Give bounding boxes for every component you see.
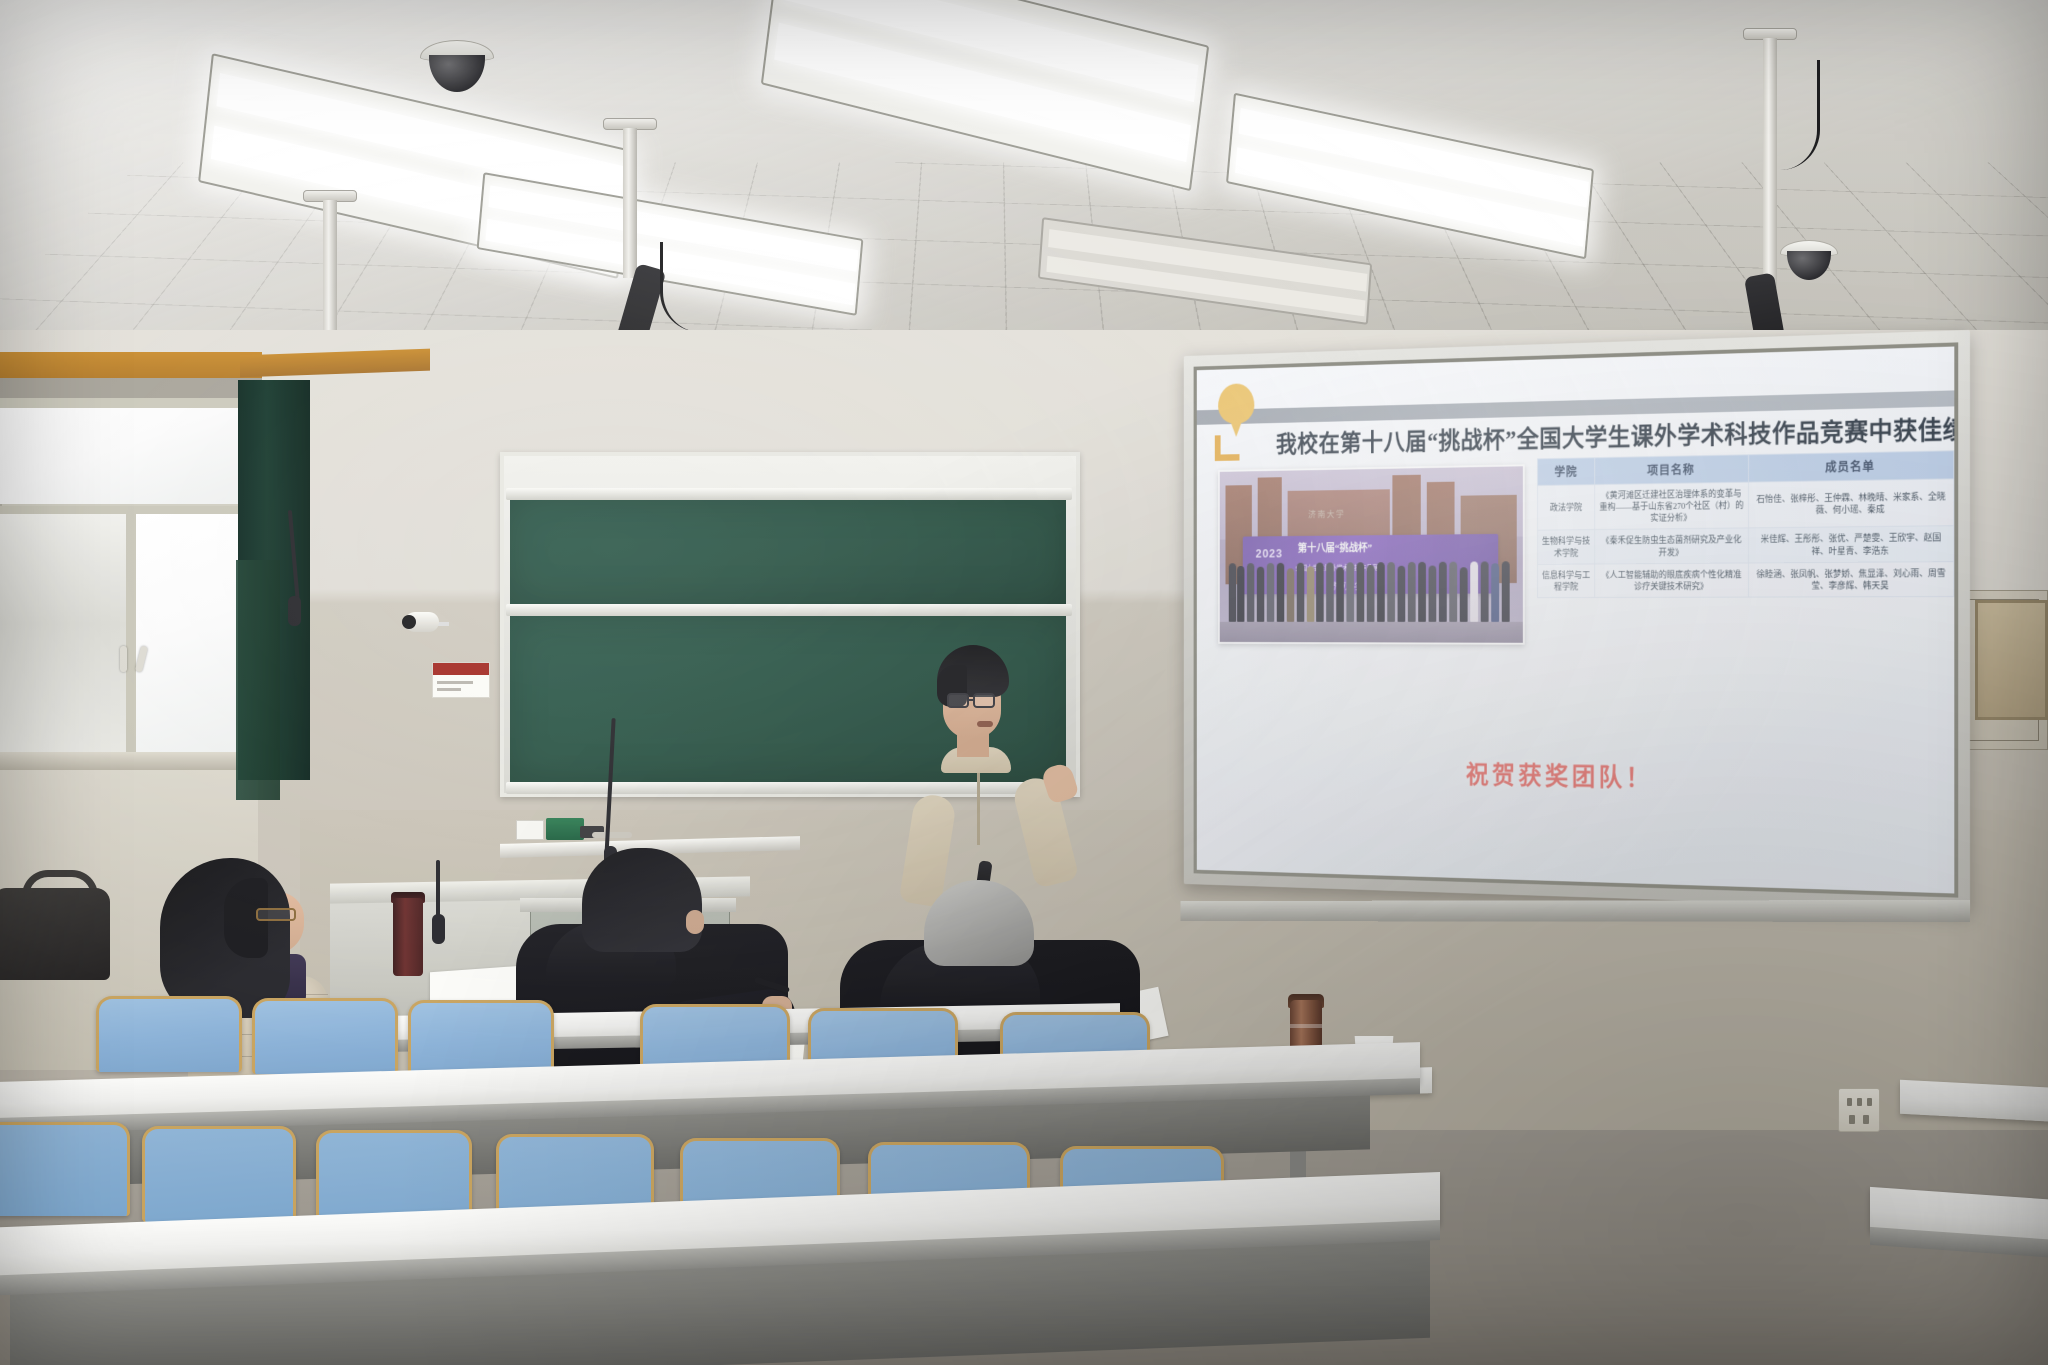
window-top-trim-secondary xyxy=(0,378,262,400)
table-row: 信息科学与工程学院 《人工智能辅助的眼底疾病个性化精准诊疗关键技术研究》 徐睦涵… xyxy=(1538,561,1954,597)
seat[interactable] xyxy=(252,998,398,1074)
glasses-bridge xyxy=(969,699,975,701)
glasses-icon xyxy=(947,693,969,708)
slide-group-photo: 济南大学 2023 第十八届“挑战杯” 全国大学生课外学术科技作品竞赛 济南大学 xyxy=(1218,464,1525,644)
photo-crowd xyxy=(1226,562,1517,622)
head xyxy=(582,848,702,952)
cell-project: 《秦禾促生防虫生态菌剂研究及产业化开发》 xyxy=(1595,528,1749,563)
cell-college: 政法学院 xyxy=(1538,485,1595,531)
thermos-band xyxy=(1290,1024,1322,1028)
cell-members: 徐睦涵、张凤帆、张梦娇、焦显泽、刘心雨、周雪莹、李彦辉、韩天昊 xyxy=(1749,561,1954,597)
projection-screen-inner: 我校在第十八届“挑战杯”全国大学生课外学术科技作品竞赛中获佳绩 济南大学 202… xyxy=(1194,342,1959,897)
banner-year: 2023 xyxy=(1256,546,1283,560)
slide-congratulations-text: 祝贺获奖团队！ xyxy=(1197,751,1954,800)
cell-college: 生物科学与技术学院 xyxy=(1538,530,1595,564)
photo-ground xyxy=(1220,622,1523,643)
photo-building-signature: 济南大学 xyxy=(1308,508,1345,521)
glasses-icon xyxy=(973,693,995,708)
black-bag[interactable] xyxy=(0,888,110,980)
chalk-box-label xyxy=(516,820,544,840)
safety-sign xyxy=(432,662,490,698)
table-header-members: 成员名单 xyxy=(1749,451,1954,482)
seat[interactable] xyxy=(96,996,242,1072)
window-top-trim xyxy=(0,352,262,378)
window-pane-top xyxy=(0,408,242,504)
window-mullion-horizontal xyxy=(0,506,242,514)
cell-project: 《人工智能辅助的眼底疾病个性化精准诊疗关键技术研究》 xyxy=(1595,563,1749,598)
award-results-table: 学院 项目名称 成员名单 政法学院 《黄河滩区迁建社区治理体系的变革与重构——基… xyxy=(1537,450,1954,598)
cell-members: 石怡佳、张梓彤、王仲霖、林晚晴、米家系、全晓薇、何小瑶、秦成 xyxy=(1749,479,1954,529)
window-sill xyxy=(0,752,258,770)
presenter-zipper xyxy=(977,767,980,845)
chalk-box[interactable] xyxy=(546,818,584,840)
blackboard-rail xyxy=(506,488,1072,500)
blackboard-panel-upper xyxy=(510,500,1066,604)
window-pane-bottom-right xyxy=(136,514,242,758)
table-row: 政法学院 《黄河滩区迁建社区治理体系的变革与重构——基于山东省270个社区（村）… xyxy=(1538,479,1954,531)
balloon-logo-icon xyxy=(1215,383,1258,439)
window-handle[interactable] xyxy=(120,646,127,672)
table-row: 生物科学与技术学院 《秦禾促生防虫生态菌剂研究及产业化开发》 米佳辉、王彤彤、张… xyxy=(1538,526,1954,564)
cell-college: 信息科学与工程学院 xyxy=(1538,564,1595,598)
cell-members: 米佳辉、王彤彤、张优、严楚雯、王欣宇、赵国祥、叶星青、李浩东 xyxy=(1749,526,1954,563)
green-curtain-fold xyxy=(236,560,280,800)
seat[interactable] xyxy=(408,1000,554,1076)
presenter-mouth xyxy=(977,721,993,727)
dome-camera-icon xyxy=(420,40,494,92)
grey-hair xyxy=(924,880,1034,966)
wall-camera-icon xyxy=(405,608,449,638)
slide: 我校在第十八届“挑战杯”全国大学生课外学术科技作品竞赛中获佳绩 济南大学 202… xyxy=(1197,346,1954,893)
seat[interactable] xyxy=(142,1126,296,1222)
gooseneck-microphone[interactable] xyxy=(292,510,308,630)
gooseneck-microphone[interactable] xyxy=(436,860,452,940)
projection-screen-bottom-bar xyxy=(1181,900,1970,922)
window-mullion-vertical xyxy=(126,514,136,758)
seat[interactable] xyxy=(0,1122,130,1216)
bulletin-board xyxy=(1975,600,2048,720)
banner-line-1: 第十八届“挑战杯” xyxy=(1298,540,1372,556)
window-pane-bottom-left xyxy=(0,514,126,758)
table-header-college: 学院 xyxy=(1538,458,1595,486)
classroom-photo: 我校在第十八届“挑战杯”全国大学生课外学术科技作品竞赛中获佳绩 济南大学 202… xyxy=(0,0,2048,1365)
power-outlet[interactable] xyxy=(1838,1088,1880,1132)
glasses-icon xyxy=(256,908,296,921)
blackboard-rail xyxy=(506,604,1072,616)
window xyxy=(0,398,252,758)
ear xyxy=(686,910,704,934)
projection-screen: 我校在第十八届“挑战杯”全国大学生课外学术科技作品竞赛中获佳绩 济南大学 202… xyxy=(1184,330,1970,910)
cell-project: 《黄河滩区迁建社区治理体系的变革与重构——基于山东省270个社区（村）的实证分析… xyxy=(1595,482,1749,530)
table-header-project: 项目名称 xyxy=(1595,455,1749,485)
